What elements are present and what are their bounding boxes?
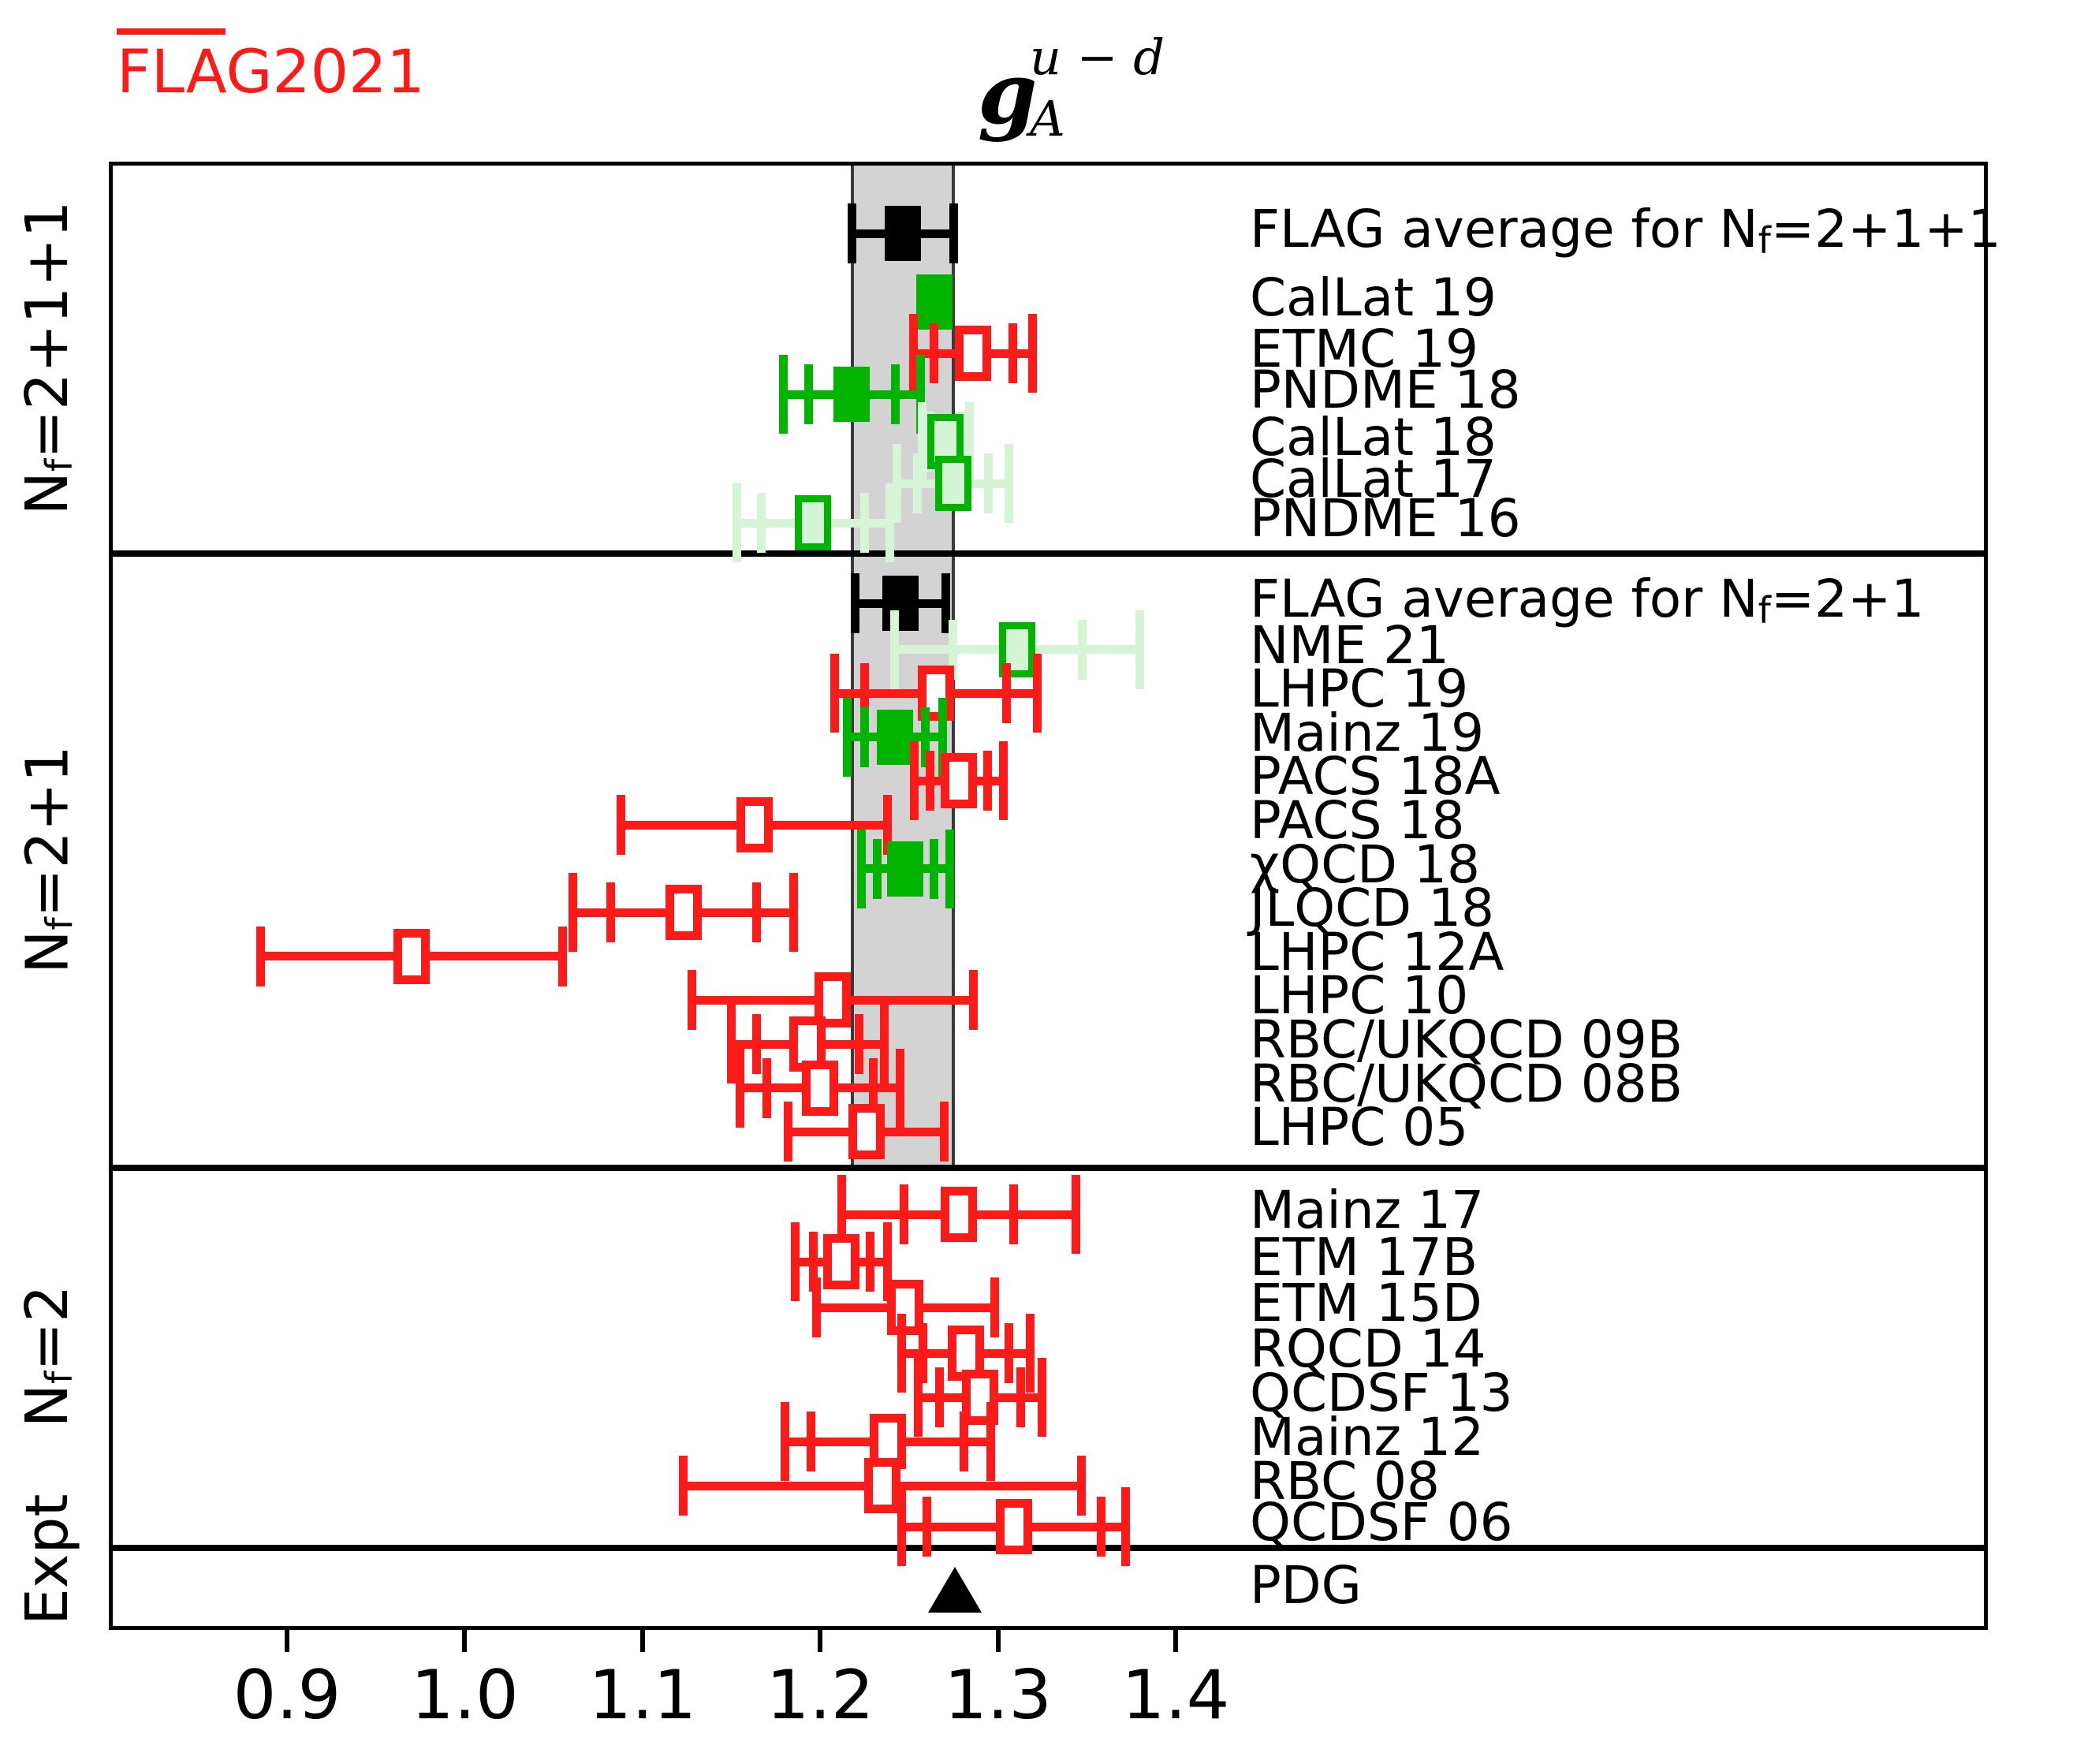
x-tick-label: 1.1 [588, 1656, 696, 1735]
flag-logo-year: 2021 [272, 36, 424, 106]
flag-logo-rest: G [226, 36, 272, 106]
x-tick [640, 1630, 645, 1652]
title-base: g [978, 44, 1038, 144]
x-tick [462, 1630, 467, 1652]
x-tick-label: 1.0 [411, 1656, 519, 1735]
flag-2021-logo: FLAG2021 [117, 36, 425, 106]
x-tick-label: 1.4 [1122, 1656, 1230, 1735]
x-tick-label: 1.3 [944, 1656, 1052, 1735]
x-tick [285, 1630, 289, 1652]
plot-frame [109, 162, 1988, 1630]
group-label-Nf21: Nf=2+1 [13, 552, 81, 1166]
group-label-Nf211: Nf=2+1+1 [13, 164, 81, 552]
x-tick-label: 1.2 [766, 1656, 874, 1735]
forest-plot-figure: FLAG2021 g u − d A FLAG average for Nf=2… [0, 0, 2099, 1764]
flag-logo-overlined: FLA [117, 28, 226, 106]
group-label-Expt: Expt [13, 1546, 81, 1625]
x-tick [1173, 1630, 1178, 1652]
x-tick [818, 1630, 822, 1652]
x-tick-label: 0.9 [233, 1656, 341, 1735]
page-title: g u − d A [978, 14, 1293, 125]
title-superscript: u − d [1030, 28, 1165, 86]
x-tick [996, 1630, 1001, 1652]
title-subscript: A [1030, 90, 1065, 147]
group-label-Nf2: Nf=2 [13, 1166, 81, 1546]
